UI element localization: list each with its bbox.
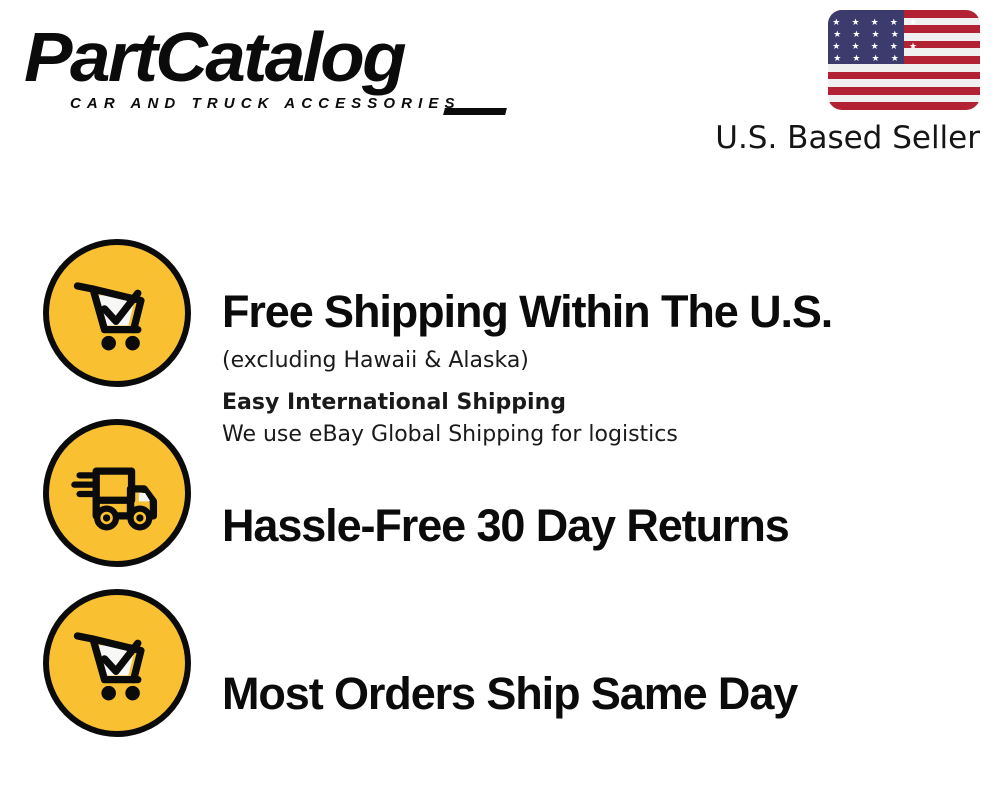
flag-star-row: ★ ★ ★ ★ ★ [828, 42, 904, 51]
feature-headline: Free Shipping Within The U.S. [222, 287, 980, 337]
brand-tagline: CAR AND TRUCK ACCESSORIES [70, 96, 461, 112]
feature-item-same-day-shipping: Most Orders Ship Same Day [0, 589, 1000, 759]
flag-star-row: ★ ★ ★ ★ [828, 30, 904, 39]
delivery-truck-icon [43, 419, 191, 567]
shopping-cart-check-icon [43, 239, 191, 387]
flag-star-row: ★ ★ ★ ★ [828, 54, 904, 63]
seller-badge: ★ ★ ★ ★ ★ ★ ★ ★ ★ ★ ★ ★ ★ ★ ★ ★ ★ ★ U.S.… [700, 8, 990, 158]
feature-subline-emphasis: Easy International Shipping [222, 387, 980, 419]
header-banner: PartCatalog CAR AND TRUCK ACCESSORIES ★ … [0, 0, 1000, 175]
feature-text-block: Hassle-Free 30 Day Returns [222, 501, 980, 551]
flag-stripe [828, 72, 980, 80]
flag-stripe [828, 87, 980, 95]
brand-wordmark: PartCatalog [24, 22, 513, 92]
seller-label: U.S. Based Seller [700, 120, 980, 156]
brand-underline-accent [443, 108, 507, 115]
feature-item-returns: Hassle-Free 30 Day Returns [0, 419, 1000, 589]
feature-subline: (excluding Hawaii & Alaska) [222, 345, 980, 377]
feature-item-free-shipping: Free Shipping Within The U.S. (excluding… [0, 237, 1000, 412]
feature-headline: Most Orders Ship Same Day [222, 669, 980, 719]
united-states-flag-icon: ★ ★ ★ ★ ★ ★ ★ ★ ★ ★ ★ ★ ★ ★ ★ ★ ★ ★ [828, 10, 980, 110]
feature-list: Free Shipping Within The U.S. (excluding… [0, 175, 1000, 800]
brand-logo: PartCatalog CAR AND TRUCK ACCESSORIES [24, 22, 494, 117]
flag-star-row: ★ ★ ★ ★ ★ [828, 18, 904, 27]
feature-text-block: Most Orders Ship Same Day [222, 669, 980, 719]
feature-headline: Hassle-Free 30 Day Returns [222, 501, 980, 551]
shopping-cart-check-icon [43, 589, 191, 737]
flag-stripe [828, 102, 980, 110]
